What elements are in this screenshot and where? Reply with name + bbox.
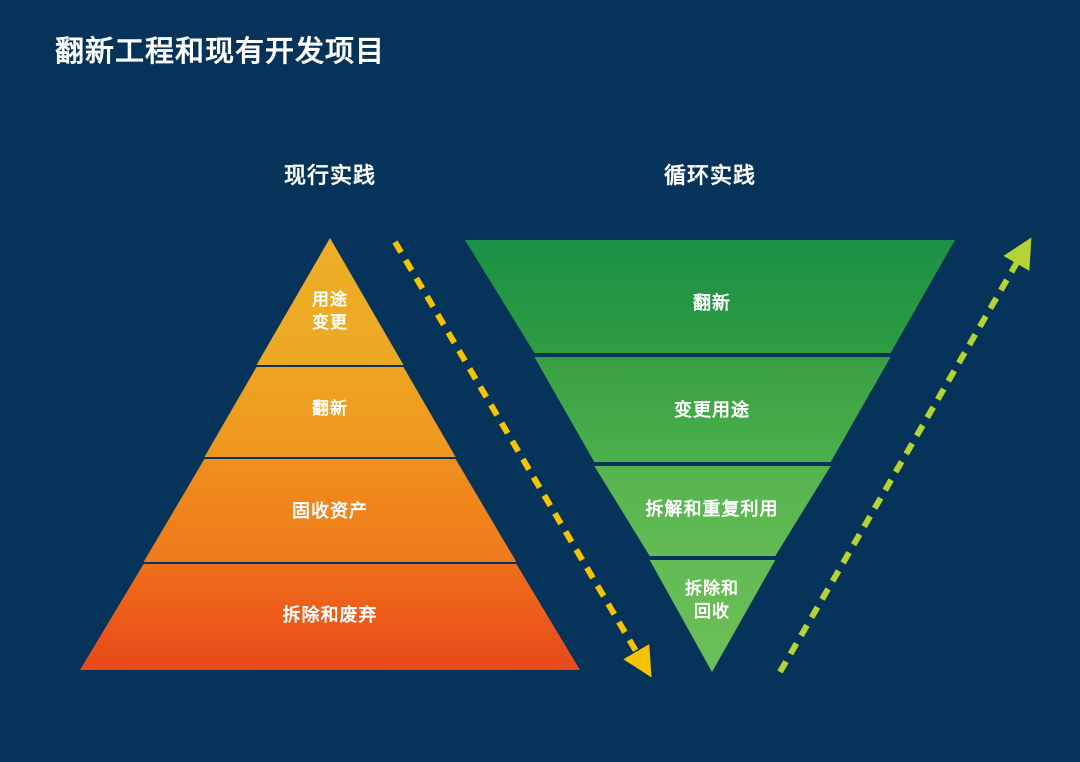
left-tier-3 — [144, 459, 517, 562]
right-tier-1 — [465, 240, 955, 353]
pyramids-diagram — [0, 0, 1080, 762]
right-tier-3 — [594, 466, 830, 556]
right-tier-4 — [650, 560, 776, 672]
right-tier-2 — [534, 357, 890, 462]
left-tier-4 — [80, 564, 580, 670]
left-tier-1 — [257, 238, 404, 365]
slide-canvas: 翻新工程和现有开发项目 现行实践 循环实践 — [0, 0, 1080, 762]
left-tier-2 — [204, 367, 455, 457]
